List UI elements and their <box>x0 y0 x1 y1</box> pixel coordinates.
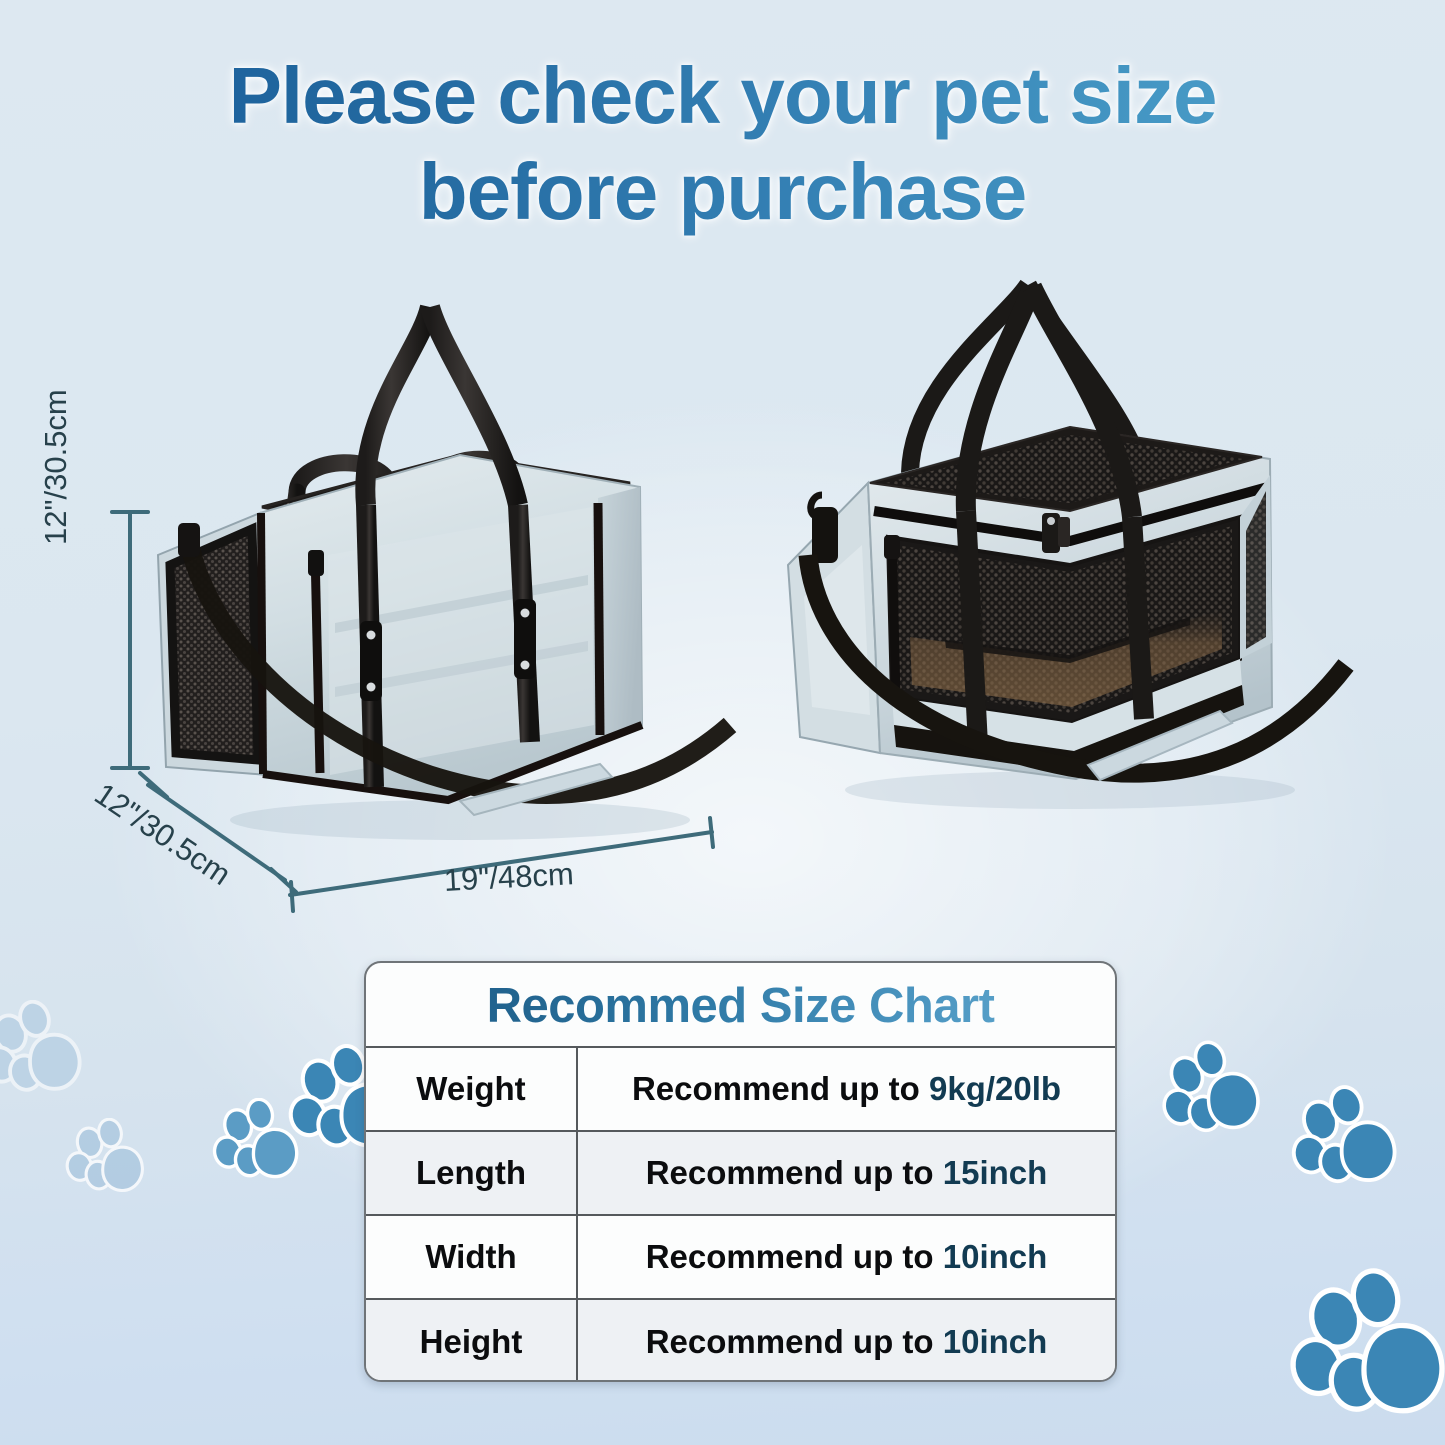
table-row: Length Recommend up to 15inch <box>366 1131 1115 1215</box>
row-value-lead: Recommend up to <box>632 1070 929 1107</box>
row-value: Recommend up to 10inch <box>577 1299 1115 1382</box>
table-row: Width Recommend up to 10inch <box>366 1215 1115 1299</box>
paw-print-icon <box>1160 1040 1270 1150</box>
size-chart-card: Recommed Size Chart Weight Recommend up … <box>364 961 1117 1382</box>
size-chart-title: Recommed Size Chart <box>366 963 1115 1046</box>
table-row: Weight Recommend up to 9kg/20lb <box>366 1047 1115 1131</box>
row-label: Weight <box>366 1047 577 1131</box>
paw-print-icon <box>65 1118 153 1206</box>
row-value-lead: Recommend up to <box>646 1238 943 1275</box>
paw-print-icon <box>0 1000 92 1110</box>
row-value: Recommend up to 10inch <box>577 1215 1115 1299</box>
size-chart-table: Weight Recommend up to 9kg/20lb Length R… <box>366 1046 1115 1382</box>
paw-print-icon <box>1288 1268 1445 1443</box>
infographic-page: Please check your pet size before purcha… <box>0 0 1445 1445</box>
row-value-number: 10inch <box>943 1323 1048 1360</box>
row-label: Width <box>366 1215 577 1299</box>
row-value-number: 15inch <box>943 1154 1048 1191</box>
row-value-number: 9kg/20lb <box>929 1070 1061 1107</box>
table-row: Height Recommend up to 10inch <box>366 1299 1115 1382</box>
row-value-lead: Recommend up to <box>646 1154 943 1191</box>
row-value-number: 10inch <box>943 1238 1048 1275</box>
row-value: Recommend up to 9kg/20lb <box>577 1047 1115 1131</box>
row-value: Recommend up to 15inch <box>577 1131 1115 1215</box>
dimension-label-width: 19"/48cm <box>443 856 575 899</box>
row-value-lead: Recommend up to <box>646 1323 943 1360</box>
row-label: Length <box>366 1131 577 1215</box>
paw-print-icon <box>1290 1085 1408 1203</box>
row-label: Height <box>366 1299 577 1382</box>
dimension-label-height: 12"/30.5cm <box>38 389 74 545</box>
